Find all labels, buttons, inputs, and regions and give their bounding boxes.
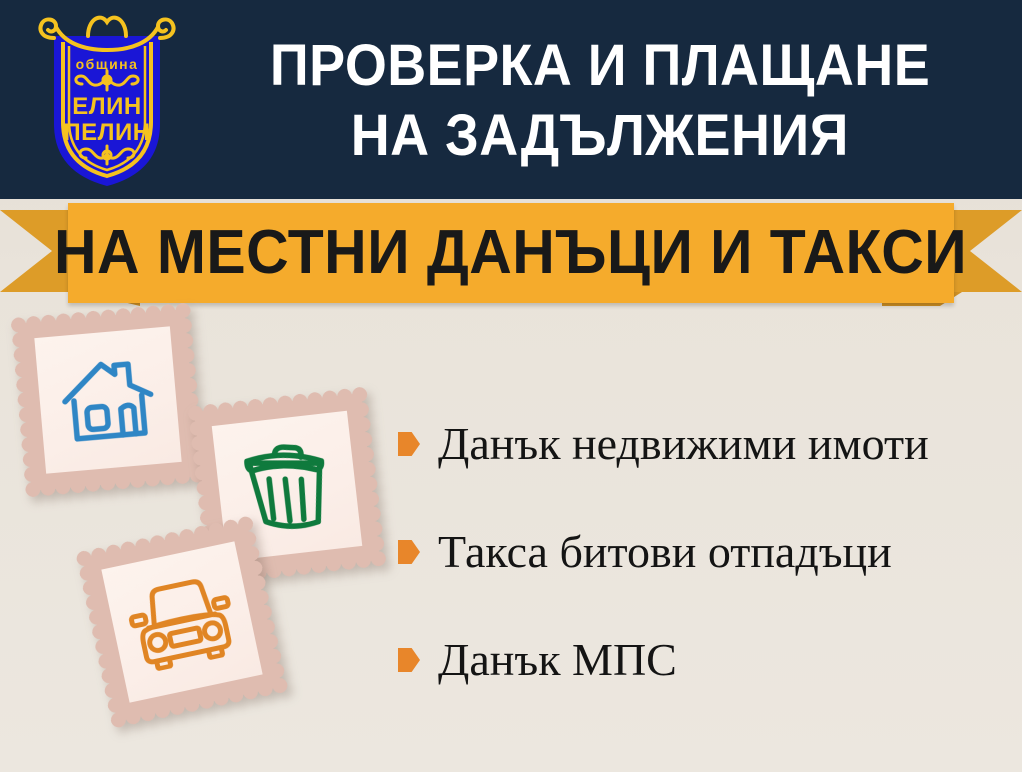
stamp-collection bbox=[0, 300, 420, 772]
list-item[interactable]: Данък недвижими имоти bbox=[398, 418, 1008, 470]
page-title-line-1: ПРОВЕРКА И ПЛАЩАНЕ bbox=[270, 31, 930, 101]
list-item-label: Данък недвижими имоти bbox=[438, 419, 929, 469]
stamp-house bbox=[10, 302, 205, 497]
car-front-icon bbox=[122, 569, 242, 675]
elin-pelin-municipality-crest: община ЕЛИН ПЕЛИН bbox=[36, 6, 178, 190]
page-title-line-2: НА ЗАДЪЛЖЕНИЯ bbox=[351, 101, 849, 171]
arrow-bullet-icon bbox=[398, 648, 420, 672]
trash-bin-icon bbox=[239, 434, 335, 537]
arrow-bullet-icon bbox=[398, 540, 420, 564]
header-banner: община ЕЛИН ПЕЛИН ПРОВЕРКА И ПЛАЩАНЕ НА … bbox=[0, 0, 1022, 199]
ribbon-label: НА МЕСТНИ ДАНЪЦИ И ТАКСИ bbox=[55, 221, 968, 285]
tax-types-list: Данък недвижими имоти Такса битови отпад… bbox=[398, 418, 1008, 742]
ribbon-band: НА МЕСТНИ ДАНЪЦИ И ТАКСИ bbox=[68, 203, 954, 303]
list-item-label: Такса битови отпадъци bbox=[438, 527, 892, 577]
stamp-face bbox=[101, 541, 262, 702]
house-icon bbox=[56, 350, 160, 450]
stamp-car bbox=[75, 515, 288, 728]
list-item[interactable]: Такса битови отпадъци bbox=[398, 526, 1008, 578]
arrow-bullet-icon bbox=[398, 432, 420, 456]
stamp-face bbox=[34, 326, 181, 473]
list-item[interactable]: Данък МПС bbox=[398, 634, 1008, 686]
page-title: ПРОВЕРКА И ПЛАЩАНЕ НА ЗАДЪЛЖЕНИЯ bbox=[190, 18, 1010, 183]
svg-text:ПЕЛИН: ПЕЛИН bbox=[63, 119, 150, 146]
subtitle-ribbon: НА МЕСТНИ ДАНЪЦИ И ТАКСИ bbox=[0, 198, 1022, 306]
svg-text:ЕЛИН: ЕЛИН bbox=[72, 93, 141, 120]
list-item-label: Данък МПС bbox=[438, 635, 677, 685]
